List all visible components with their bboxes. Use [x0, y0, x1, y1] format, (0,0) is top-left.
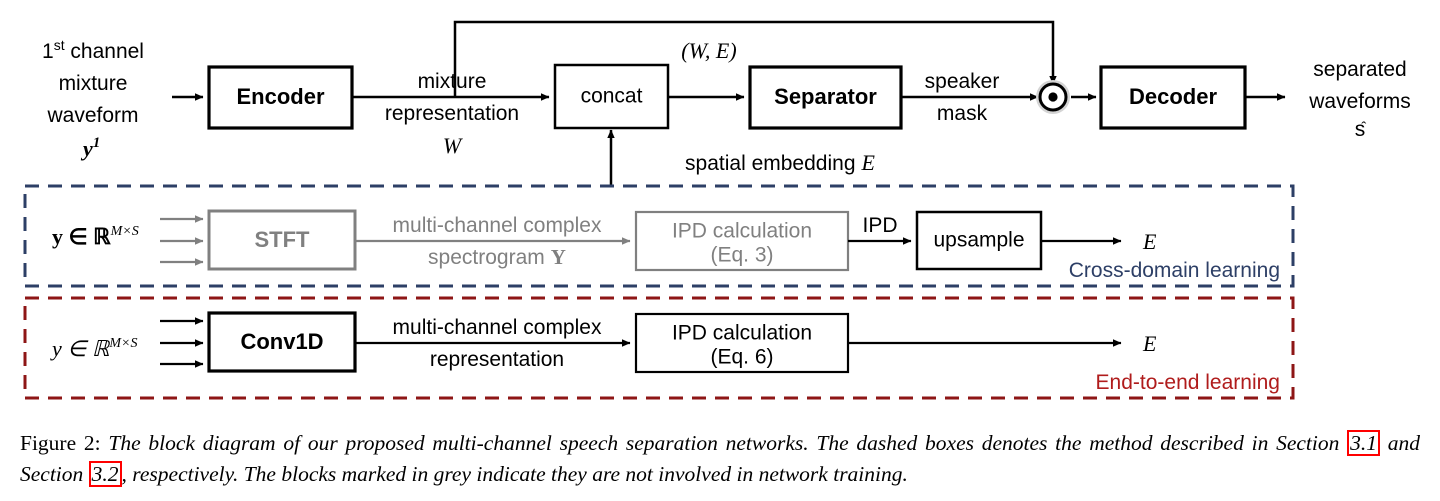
block-separator-label: Separator — [774, 84, 877, 109]
block-encoder-label: Encoder — [236, 84, 324, 109]
input-label-line2: mixture — [59, 72, 128, 95]
spatial-embedding-label: spatial embeddingE — [685, 150, 875, 175]
caption-text-part1: The block diagram of our proposed multi-… — [108, 431, 1347, 455]
block-encoder[interactable]: Encoder — [209, 67, 352, 128]
output-line2: waveforms — [1308, 90, 1411, 113]
block-ipd-eq3-line1: IPD calculation — [672, 220, 812, 243]
input-waveform-label: 1st channel mixture waveform y1 — [42, 37, 144, 161]
multiply-node-icon — [1036, 80, 1070, 114]
block-ipd-calculation-eq6[interactable]: IPD calculation (Eq. 6) — [636, 314, 848, 372]
block-diagram: 1st channel mixture waveform y1 Encoder … — [0, 0, 1440, 420]
figure-number: Figure 2: — [20, 431, 101, 455]
block-conv1d[interactable]: Conv1D — [209, 313, 355, 371]
block-ipd-calculation-eq3[interactable]: IPD calculation (Eq. 3) — [636, 212, 848, 270]
block-ipd-eq6-line2: (Eq. 6) — [710, 346, 773, 369]
mixture-rep-line2: representation — [385, 102, 519, 125]
section-xref-3-2[interactable]: 3.2 — [89, 461, 122, 487]
speaker-mask-line2: mask — [937, 102, 988, 125]
output-symbol: ̂s — [1355, 118, 1367, 141]
figure-page: 1st channel mixture waveform y1 Encoder … — [0, 0, 1440, 501]
block-upsample-label: upsample — [933, 229, 1024, 252]
block-ipd-eq3-line2: (Eq. 3) — [710, 244, 773, 267]
we-tuple-label: (W, E) — [681, 38, 736, 63]
block-upsample[interactable]: upsample — [917, 212, 1041, 269]
cd-ipd-edge-label: IPD — [862, 214, 897, 237]
e2e-output-symbol: E — [1142, 331, 1157, 356]
speaker-mask-line1: speaker — [925, 70, 1000, 93]
block-ipd-eq6-line1: IPD calculation — [672, 322, 812, 345]
e2e-edge-label-line2: representation — [430, 348, 564, 371]
block-stft[interactable]: STFT — [209, 211, 355, 269]
input-label-line1: 1st channel — [42, 37, 144, 63]
block-conv1d-label: Conv1D — [240, 329, 323, 354]
output-waveform-label: separated waveforms ̂s — [1308, 58, 1411, 141]
cd-output-symbol: E — [1142, 229, 1157, 254]
block-separator[interactable]: Separator — [750, 67, 901, 128]
cd-edge-label-line1: multi-channel complex — [393, 214, 602, 237]
zone-label-end-to-end: End-to-end learning — [1096, 371, 1280, 394]
cd-input-expression: y ∈ ℝM×S — [52, 224, 139, 249]
caption-text-part3: , respectively. The blocks marked in gre… — [122, 462, 908, 486]
zone-label-cross-domain: Cross-domain learning — [1069, 259, 1280, 282]
block-decoder-label: Decoder — [1129, 84, 1217, 109]
input-label-line3: waveform — [46, 104, 138, 127]
mixture-rep-symbol: W — [443, 133, 463, 158]
mixture-rep-line1: mixture — [418, 70, 487, 93]
block-stft-label: STFT — [255, 227, 311, 252]
block-decoder[interactable]: Decoder — [1101, 67, 1245, 128]
e2e-edge-label-line1: multi-channel complex — [393, 316, 602, 339]
block-concat[interactable]: concat — [555, 65, 668, 128]
input-symbol: y1 — [80, 135, 100, 161]
cd-edge-label-line2: spectrogramY — [428, 245, 566, 269]
figure-caption: Figure 2: The block diagram of our propo… — [20, 428, 1420, 490]
block-concat-label: concat — [581, 85, 643, 108]
section-xref-3-1[interactable]: 3.1 — [1347, 430, 1380, 456]
e2e-input-expression: y ∈ ℝM×S — [50, 336, 137, 361]
output-line1: separated — [1313, 58, 1406, 81]
mixture-representation-label: mixture representation W — [385, 70, 519, 158]
